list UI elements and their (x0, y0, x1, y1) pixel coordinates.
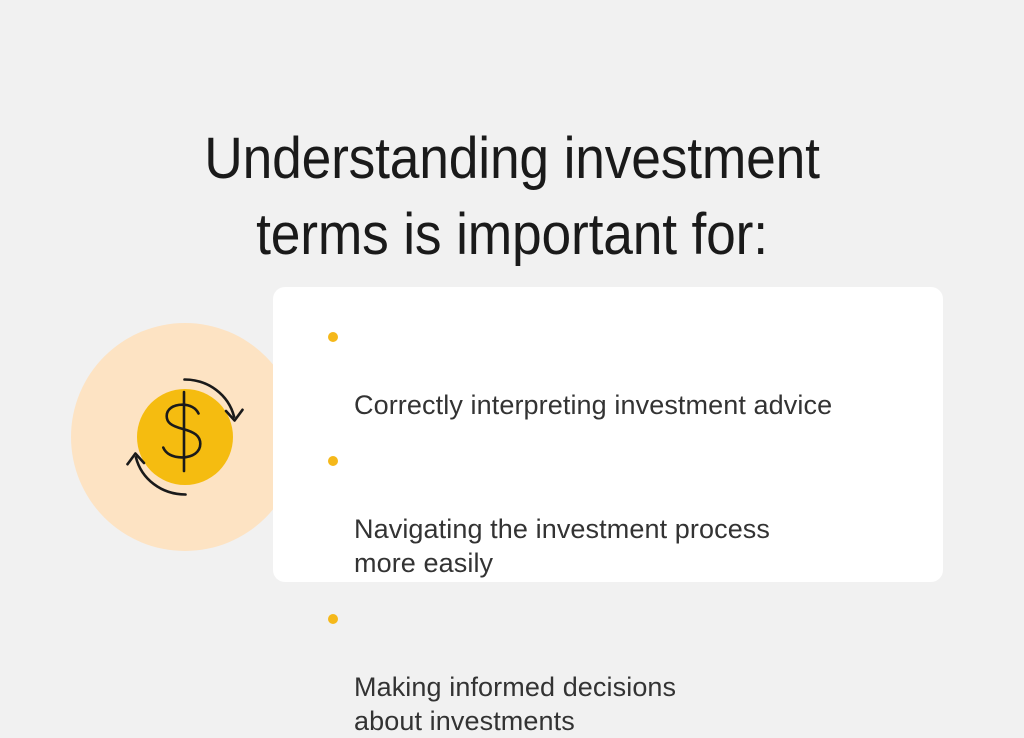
list-item: Navigating the investment process more e… (320, 444, 923, 580)
slide-canvas: Understanding investment terms is import… (0, 0, 1024, 676)
icon-artwork (71, 323, 299, 551)
list-item-label: Correctly interpreting investment advice (354, 390, 832, 420)
list-item: Making informed decisions about investme… (320, 602, 923, 738)
money-cycle-icon (71, 323, 299, 551)
bullet-list: Correctly interpreting investment advice… (320, 320, 923, 738)
arrow-clockwise-bottom (128, 454, 186, 495)
list-item-label: Making informed decisions about investme… (354, 672, 676, 736)
bullet-dot-icon (328, 332, 338, 342)
bullet-dot-icon (328, 614, 338, 624)
page-title: Understanding investment terms is import… (41, 121, 983, 273)
bullet-card: Correctly interpreting investment advice… (273, 287, 943, 582)
arrow-clockwise-top (185, 380, 243, 421)
list-item-label: Navigating the investment process more e… (354, 514, 770, 578)
bullet-dot-icon (328, 456, 338, 466)
dollar-sign-icon (163, 392, 200, 471)
list-item: Correctly interpreting investment advice (320, 320, 923, 422)
